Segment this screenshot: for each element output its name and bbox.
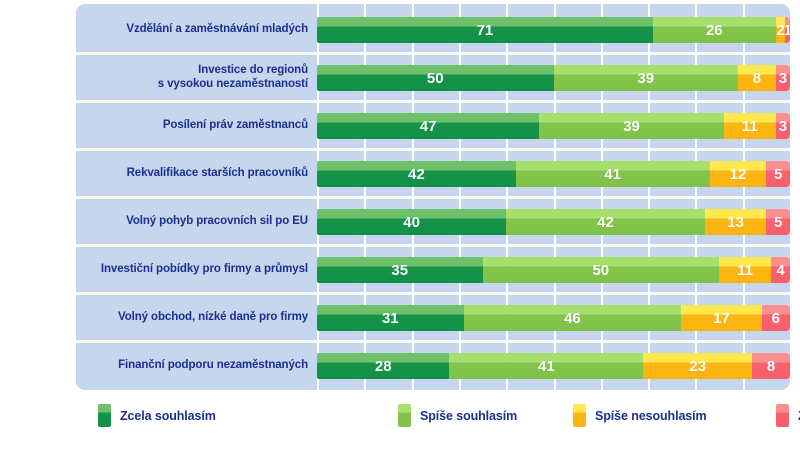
row-label-line: Volný obchod, nízké daně pro firmy — [118, 311, 308, 325]
chart-row: Vzdělání a zaměstnávání mladých712621 — [76, 8, 790, 51]
stacked-bar: 4739113 — [317, 113, 790, 139]
legend-item[interactable]: Spíše nesouhlasím — [573, 404, 707, 427]
stacked-bar: 4042135 — [317, 209, 790, 235]
segment-value-label: 35 — [391, 262, 408, 279]
legend-item[interactable]: Zcela souhlasím — [98, 404, 216, 427]
bar-segment-4: 4 — [771, 257, 790, 283]
segment-value-label: 8 — [753, 70, 761, 87]
legend-label: Spíše souhlasím — [420, 409, 517, 423]
bar-track: 4241125 — [317, 152, 790, 195]
bar-track: 3146176 — [317, 296, 790, 339]
row-label-line: Posílení práv zaměstnanců — [163, 119, 308, 133]
bar-segment-3: 13 — [705, 209, 766, 235]
bar-segment-3: 8 — [738, 65, 776, 91]
row-label-line: Investice do regionů — [198, 64, 308, 78]
segment-value-label: 17 — [713, 310, 730, 327]
segment-value-label: 26 — [706, 22, 723, 39]
bar-segment-2: 39 — [554, 65, 738, 91]
bar-segment-2: 39 — [539, 113, 723, 139]
bar-segment-3: 12 — [710, 161, 767, 187]
bar-track: 4042135 — [317, 200, 790, 243]
segment-value-label: 41 — [538, 358, 555, 375]
stacked-bar: 503983 — [317, 65, 790, 91]
segment-value-label: 39 — [637, 70, 654, 87]
segment-value-label: 11 — [737, 262, 753, 279]
segment-value-label: 1 — [785, 22, 790, 39]
bar-track: 4739113 — [317, 104, 790, 147]
bar-segment-4: 5 — [766, 161, 790, 187]
plot-area: Vzdělání a zaměstnávání mladých712621Inv… — [76, 4, 790, 390]
stacked-bar: 4241125 — [317, 161, 790, 187]
legend-swatch-icon — [573, 404, 586, 427]
bar-segment-4: 5 — [766, 209, 790, 235]
row-label-line: Vzdělání a zaměstnávání mladých — [126, 23, 308, 37]
chart-row: Volný obchod, nízké daně pro firmy314617… — [76, 296, 790, 339]
chart-row: Rekvalifikace starších pracovníků4241125 — [76, 152, 790, 195]
bar-segment-2: 26 — [653, 17, 776, 43]
segment-value-label: 42 — [597, 214, 614, 231]
legend-swatch-icon — [398, 404, 411, 427]
bar-track: 712621 — [317, 8, 790, 51]
row-label: Finanční podporu nezaměstnaných — [76, 344, 317, 387]
row-separator — [76, 100, 790, 103]
bar-segment-3: 23 — [643, 353, 752, 379]
row-label-line: Finanční podporu nezaměstnaných — [118, 359, 308, 373]
bar-segment-1: 28 — [317, 353, 449, 379]
stacked-bar: 3550114 — [317, 257, 790, 283]
legend-label: Zcela souhlasím — [120, 409, 216, 423]
bar-track: 503983 — [317, 56, 790, 99]
row-separator — [76, 340, 790, 343]
chart-row: Finanční podporu nezaměstnaných2841238 — [76, 344, 790, 387]
bar-segment-3: 17 — [681, 305, 761, 331]
row-separator — [76, 292, 790, 295]
segment-value-label: 13 — [727, 214, 744, 231]
bar-segment-1: 31 — [317, 305, 464, 331]
bar-segment-1: 50 — [317, 65, 554, 91]
stacked-bar: 3146176 — [317, 305, 790, 331]
bar-segment-4: 6 — [762, 305, 790, 331]
row-separator — [76, 196, 790, 199]
segment-value-label: 5 — [774, 166, 782, 183]
segment-value-label: 11 — [742, 118, 758, 135]
segment-value-label: 71 — [477, 22, 494, 39]
segment-value-label: 6 — [772, 310, 780, 327]
segment-value-label: 42 — [408, 166, 425, 183]
legend-label: Spíše nesouhlasím — [595, 409, 707, 423]
segment-value-label: 28 — [375, 358, 392, 375]
segment-value-label: 39 — [623, 118, 640, 135]
segment-value-label: 23 — [689, 358, 706, 375]
row-label-line: s vysokou nezaměstnaností — [158, 78, 308, 92]
chart-legend: Zcela souhlasímSpíše souhlasímSpíše neso… — [76, 400, 790, 438]
bar-segment-1: 47 — [317, 113, 539, 139]
bar-segment-3: 11 — [724, 113, 776, 139]
segment-value-label: 41 — [604, 166, 621, 183]
row-label: Investiční pobídky pro firmy a průmysl — [76, 248, 317, 291]
chart-row: Volný pohyb pracovních sil po EU4042135 — [76, 200, 790, 243]
chart-row: Investiční pobídky pro firmy a průmysl35… — [76, 248, 790, 291]
chart-row: Investice do regionůs vysokou nezaměstna… — [76, 56, 790, 99]
bar-segment-2: 46 — [464, 305, 682, 331]
bar-segment-2: 42 — [506, 209, 705, 235]
bar-segment-3: 11 — [719, 257, 771, 283]
segment-value-label: 31 — [382, 310, 399, 327]
segment-value-label: 2 — [776, 22, 784, 39]
segment-value-label: 50 — [427, 70, 444, 87]
chart-row: Posílení práv zaměstnanců4739113 — [76, 104, 790, 147]
bar-segment-1: 42 — [317, 161, 516, 187]
bar-segment-4: 1 — [785, 17, 790, 43]
legend-swatch-icon — [776, 404, 789, 427]
row-separator — [76, 148, 790, 151]
bar-segment-4: 3 — [776, 113, 790, 139]
segment-value-label: 5 — [774, 214, 782, 231]
segment-value-label: 12 — [730, 166, 747, 183]
segment-value-label: 3 — [779, 118, 787, 135]
segment-value-label: 50 — [592, 262, 609, 279]
legend-item[interactable]: Zcela nesouhlasím — [776, 404, 800, 427]
stacked-bar: 2841238 — [317, 353, 790, 379]
row-separator — [76, 52, 790, 55]
row-label-line: Investiční pobídky pro firmy a průmysl — [101, 263, 308, 277]
bar-segment-1: 40 — [317, 209, 506, 235]
bar-segment-2: 41 — [449, 353, 643, 379]
row-label-line: Volný pohyb pracovních sil po EU — [126, 215, 308, 229]
legend-item[interactable]: Spíše souhlasím — [398, 404, 517, 427]
segment-value-label: 46 — [564, 310, 581, 327]
bar-segment-4: 8 — [752, 353, 790, 379]
segment-value-label: 4 — [776, 262, 784, 279]
row-label: Rekvalifikace starších pracovníků — [76, 152, 317, 195]
chart-rows: Vzdělání a zaměstnávání mladých712621Inv… — [76, 4, 790, 390]
segment-value-label: 40 — [403, 214, 420, 231]
bar-segment-4: 3 — [776, 65, 790, 91]
row-label-line: Rekvalifikace starších pracovníků — [127, 167, 308, 181]
row-separator — [76, 244, 790, 247]
bar-segment-2: 41 — [516, 161, 710, 187]
stacked-bar: 712621 — [317, 17, 790, 43]
row-label: Posílení práv zaměstnanců — [76, 104, 317, 147]
row-label: Investice do regionůs vysokou nezaměstna… — [76, 56, 317, 99]
bar-segment-2: 50 — [483, 257, 720, 283]
row-label: Volný pohyb pracovních sil po EU — [76, 200, 317, 243]
bar-segment-3: 2 — [776, 17, 785, 43]
legend-swatch-icon — [98, 404, 111, 427]
segment-value-label: 47 — [420, 118, 437, 135]
bar-segment-1: 35 — [317, 257, 483, 283]
segment-value-label: 3 — [779, 70, 787, 87]
bar-segment-1: 71 — [317, 17, 653, 43]
segment-value-label: 8 — [767, 358, 775, 375]
row-label: Vzdělání a zaměstnávání mladých — [76, 8, 317, 51]
stacked-bar-chart: Vzdělání a zaměstnávání mladých712621Inv… — [0, 0, 800, 449]
bar-track: 2841238 — [317, 344, 790, 387]
bar-track: 3550114 — [317, 248, 790, 291]
row-label: Volný obchod, nízké daně pro firmy — [76, 296, 317, 339]
